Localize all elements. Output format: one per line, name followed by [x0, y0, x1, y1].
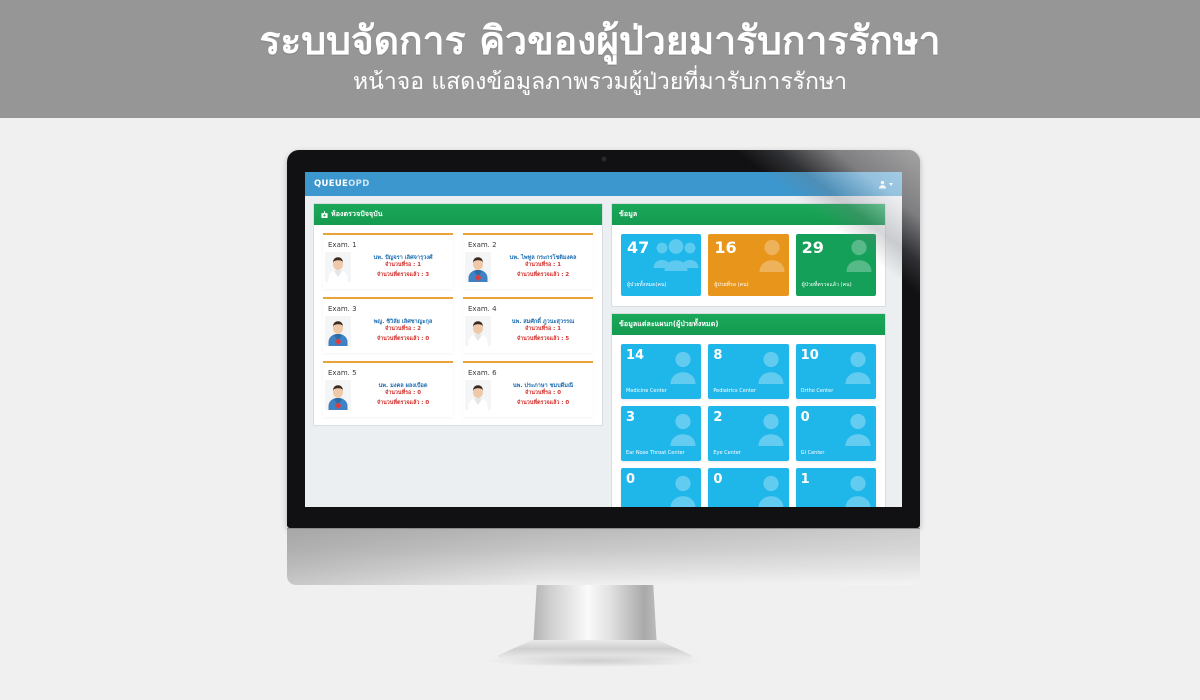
info-panel-header: ข้อมูล — [612, 204, 885, 225]
completed-count: จำนวนที่ตรวจแล้ว : 3 — [355, 272, 451, 280]
waiting-count: จำนวนที่รอ : 2 — [355, 326, 451, 334]
exam-rooms-grid: Exam. 1 นพ. ปัญจรา เลิศจารุวงศ์ จำนวนที่… — [314, 225, 602, 425]
app-logo-primary: QUEUE — [314, 179, 348, 189]
department-card[interactable]: 14 Medicine Center — [621, 344, 701, 399]
department-label: GI Center — [801, 450, 825, 456]
user-icon — [878, 180, 887, 189]
department-value: 0 — [713, 473, 783, 486]
department-value: 1 — [801, 473, 871, 486]
doctor-name: นพ. สมศักดิ์ ภูวนะสุวรรณ — [495, 318, 591, 326]
app-logo[interactable]: QUEUEOPD — [314, 179, 370, 189]
app-logo-secondary: OPD — [348, 179, 369, 189]
doctor-avatar-icon — [465, 252, 491, 282]
department-label: Ortho Center — [801, 388, 834, 394]
doctor-photo — [325, 252, 351, 282]
department-value: 14 — [626, 349, 696, 362]
doctor-name: นพ. ปัญจรา เลิศจารุวงศ์ — [355, 254, 451, 262]
hospital-icon — [321, 211, 328, 218]
exam-room-label: Exam. 5 — [328, 369, 451, 377]
department-card[interactable]: 0 GI Center — [796, 406, 876, 461]
waiting-count: จำนวนที่รอ : 1 — [355, 262, 451, 270]
exam-room-label: Exam. 3 — [328, 305, 451, 313]
page-banner: ระบบจัดการ คิวของผู้ป่วยมารับการรักษา หน… — [0, 0, 1200, 118]
summary-stat-card[interactable]: 47 ผู้ป่วยทั้งหมด(คน) — [621, 234, 701, 296]
completed-count: จำนวนที่ตรวจแล้ว : 0 — [355, 400, 451, 408]
user-menu[interactable] — [878, 180, 893, 189]
monitor-chin — [287, 528, 920, 585]
exam-rooms-panel-header: ห้องตรวจปัจจุบัน — [314, 204, 602, 225]
doctor-name: นพ. ไพทูล กระกรโชติมงคล — [495, 254, 591, 262]
waiting-count: จำนวนที่รอ : 0 — [495, 390, 591, 398]
app-body: ห้องตรวจปัจจุบัน Exam. 1 นพ. ปัญจรา เลิศ… — [305, 196, 902, 507]
waiting-count: จำนวนที่รอ : 1 — [495, 262, 591, 270]
monitor-mockup: QUEUEOPD — [287, 150, 920, 528]
info-column: ข้อมูล 47 ผู้ป่วยทั้งหมด(คน) 16 ผู้ป่วยท… — [611, 203, 886, 500]
waiting-count: จำนวนที่รอ : 1 — [495, 326, 591, 334]
department-card[interactable]: 1 Urology Center — [796, 468, 876, 507]
monitor-stand-neck — [533, 585, 657, 648]
doctor-photo — [325, 380, 351, 410]
department-card[interactable]: 3 Ear Nose Throat Center — [621, 406, 701, 461]
department-label: Pediatrics Center — [713, 388, 756, 394]
department-card[interactable]: 0 Neuro Medicine Center — [708, 468, 788, 507]
department-value: 0 — [626, 473, 696, 486]
department-value: 0 — [801, 411, 871, 424]
screen-content: QUEUEOPD — [305, 172, 902, 507]
exam-room-label: Exam. 6 — [468, 369, 591, 377]
stat-label: ผู้ป่วยทั้งหมด(คน) — [627, 281, 667, 289]
department-card[interactable]: 2 Eye Center — [708, 406, 788, 461]
department-value: 8 — [713, 349, 783, 362]
doctor-avatar-icon — [325, 316, 351, 346]
exam-room-label: Exam. 2 — [468, 241, 591, 249]
department-label: Eye Center — [713, 450, 741, 456]
department-panel-header: ข้อมูลแต่ละแผนก(ผู้ป่วยทั้งหมด) — [612, 314, 885, 335]
completed-count: จำนวนที่ตรวจแล้ว : 2 — [495, 272, 591, 280]
webcam-icon — [602, 157, 606, 161]
department-card[interactable]: 0 Heart Center — [621, 468, 701, 507]
monitor-bezel: QUEUEOPD — [287, 150, 920, 528]
department-card[interactable]: 8 Pediatrics Center — [708, 344, 788, 399]
stat-label: ผู้ป่วยที่รอ (คน) — [714, 281, 748, 289]
department-panel-title: ข้อมูลแต่ละแผนก(ผู้ป่วยทั้งหมด) — [619, 319, 719, 330]
completed-count: จำนวนที่ตรวจแล้ว : 0 — [355, 336, 451, 344]
doctor-photo — [465, 252, 491, 282]
stat-value: 47 — [627, 240, 695, 256]
exam-room-card[interactable]: Exam. 5 นพ. มงคล ผลงเบือด จำนวนที่รอ : 0… — [323, 361, 453, 417]
doctor-avatar-icon — [325, 252, 351, 282]
department-grid: 14 Medicine Center 8 Pediatrics Center 1… — [612, 335, 885, 507]
exam-rooms-panel-title: ห้องตรวจปัจจุบัน — [331, 209, 383, 220]
doctor-name: นพ. มงคล ผลงเบือด — [355, 382, 451, 390]
app-header-bar: QUEUEOPD — [305, 172, 902, 196]
department-value: 10 — [801, 349, 871, 362]
doctor-avatar-icon — [465, 380, 491, 410]
department-panel: ข้อมูลแต่ละแผนก(ผู้ป่วยทั้งหมด) 14 Medic… — [611, 313, 886, 507]
doctor-photo — [325, 316, 351, 346]
department-label: Medicine Center — [626, 388, 667, 394]
department-card[interactable]: 10 Ortho Center — [796, 344, 876, 399]
info-panel: ข้อมูล 47 ผู้ป่วยทั้งหมด(คน) 16 ผู้ป่วยท… — [611, 203, 886, 307]
department-value: 3 — [626, 411, 696, 424]
department-label: Ear Nose Throat Center — [626, 450, 685, 456]
summary-stat-card[interactable]: 16 ผู้ป่วยที่รอ (คน) — [708, 234, 788, 296]
doctor-name: นพ. ประภาษา ชมบดีมณี — [495, 382, 591, 390]
completed-count: จำนวนที่ตรวจแล้ว : 5 — [495, 336, 591, 344]
stat-value: 16 — [714, 240, 782, 256]
completed-count: จำนวนที่ตรวจแล้ว : 0 — [495, 400, 591, 408]
exam-rooms-panel: ห้องตรวจปัจจุบัน Exam. 1 นพ. ปัญจรา เลิศ… — [313, 203, 603, 426]
chevron-down-icon — [889, 183, 893, 186]
exam-room-card[interactable]: Exam. 6 นพ. ประภาษา ชมบดีมณี จำนวนที่รอ … — [463, 361, 593, 417]
summary-stat-card[interactable]: 29 ผู้ป่วยที่ตรวจแล้ว (คน) — [796, 234, 876, 296]
doctor-avatar-icon — [465, 316, 491, 346]
stat-value: 29 — [802, 240, 870, 256]
exam-room-card[interactable]: Exam. 4 นพ. สมศักดิ์ ภูวนะสุวรรณ จำนวนที… — [463, 297, 593, 353]
doctor-name: พญ. ชิวิลัย เลิศชาญะกุล — [355, 318, 451, 326]
exam-room-label: Exam. 4 — [468, 305, 591, 313]
monitor-shadow — [488, 655, 703, 667]
summary-stats-row: 47 ผู้ป่วยทั้งหมด(คน) 16 ผู้ป่วยที่รอ (ค… — [612, 225, 885, 306]
doctor-photo — [465, 380, 491, 410]
doctor-avatar-icon — [325, 380, 351, 410]
exam-rooms-column: ห้องตรวจปัจจุบัน Exam. 1 นพ. ปัญจรา เลิศ… — [313, 203, 603, 500]
exam-room-label: Exam. 1 — [328, 241, 451, 249]
info-panel-title: ข้อมูล — [619, 209, 637, 220]
department-value: 2 — [713, 411, 783, 424]
waiting-count: จำนวนที่รอ : 0 — [355, 390, 451, 398]
doctor-photo — [465, 316, 491, 346]
exam-room-card[interactable]: Exam. 2 นพ. ไพทูล กระกรโชติมงคล จำนวนที่… — [463, 233, 593, 289]
stat-label: ผู้ป่วยที่ตรวจแล้ว (คน) — [802, 281, 852, 289]
exam-room-card[interactable]: Exam. 1 นพ. ปัญจรา เลิศจารุวงศ์ จำนวนที่… — [323, 233, 453, 289]
page-title: ระบบจัดการ คิวของผู้ป่วยมารับการรักษา — [259, 20, 940, 64]
exam-room-card[interactable]: Exam. 3 พญ. ชิวิลัย เลิศชาญะกุล จำนวนที่… — [323, 297, 453, 353]
page-subtitle: หน้าจอ แสดงข้อมูลภาพรวมผู้ป่วยที่มารับกา… — [353, 68, 847, 98]
